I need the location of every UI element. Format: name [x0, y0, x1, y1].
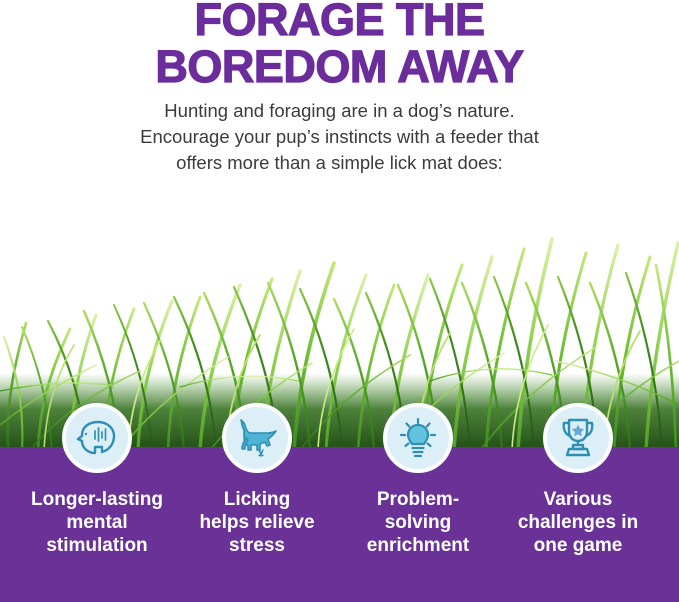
feature-label: Problem- solving enrichment: [338, 488, 498, 557]
trophy-icon: [543, 403, 613, 473]
feature-label-line: stimulation: [17, 534, 177, 557]
feature-label-line: Longer-lasting: [17, 488, 177, 511]
page-title: FORAGE THE BOREDOM AWAY: [0, 0, 679, 90]
subtitle-line-1: Hunting and foraging are in a dog’s natu…: [0, 98, 679, 124]
feature-label-line: Licking: [177, 488, 337, 511]
feature-label: Various challenges in one game: [498, 488, 658, 557]
page-title-line-2: BOREDOM AWAY: [0, 43, 679, 90]
feature-label: Longer-lasting mental stimulation: [17, 488, 177, 557]
dog-head-brainwave-icon: [62, 403, 132, 473]
page-title-line-1: FORAGE THE: [0, 0, 679, 43]
feature-label-line: Various: [498, 488, 658, 511]
feature-item: Longer-lasting mental stimulation: [17, 400, 177, 557]
feature-label-line: mental: [17, 511, 177, 534]
feature-label-line: challenges in: [498, 511, 658, 534]
feature-label-line: helps relieve: [177, 511, 337, 534]
feature-list: Longer-lasting mental stimulation: [0, 400, 679, 602]
feature-item: Licking helps relieve stress: [177, 400, 337, 557]
feature-label-line: stress: [177, 534, 337, 557]
feature-item: Problem- solving enrichment: [338, 400, 498, 557]
subtitle-line-2: Encourage your pup’s instincts with a fe…: [0, 124, 679, 150]
feature-item: Various challenges in one game: [498, 400, 658, 557]
feature-label: Licking helps relieve stress: [177, 488, 337, 557]
infographic-root: FORAGE THE BOREDOM AWAY Hunting and fora…: [0, 0, 679, 602]
subtitle: Hunting and foraging are in a dog’s natu…: [0, 98, 679, 176]
dog-licking-icon: [222, 403, 292, 473]
feature-label-line: solving: [338, 511, 498, 534]
feature-label-line: enrichment: [338, 534, 498, 557]
subtitle-line-3: offers more than a simple lick mat does:: [0, 150, 679, 176]
feature-label-line: Problem-: [338, 488, 498, 511]
feature-label-line: one game: [498, 534, 658, 557]
lightbulb-icon: [383, 403, 453, 473]
